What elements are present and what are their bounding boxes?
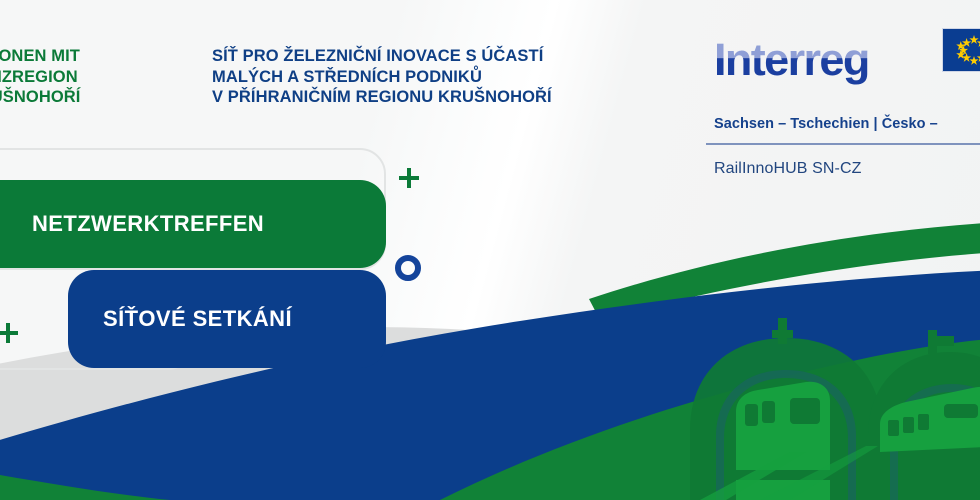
event-banner: NNOVATIONEN MIT ER GRENZREGION RGE/KRUŠN…	[0, 0, 980, 500]
title-german-line-1: NNOVATIONEN MIT	[0, 46, 186, 67]
interreg-logo-block: Interreg	[706, 28, 980, 188]
circle-outline-mark-icon	[395, 255, 421, 281]
logo-divider	[706, 143, 980, 145]
title-german-line-2: ER GRENZREGION	[0, 67, 186, 88]
badge-netzwerktreffen-label: NETZWERKTREFFEN	[32, 211, 264, 237]
badge-sitove-setkani[interactable]: SÍŤOVÉ SETKÁNÍ	[68, 270, 386, 368]
european-union-flag-icon	[942, 28, 980, 72]
title-german-line-3: RGE/KRUŠNOHOŘÍ	[0, 87, 186, 108]
region-subtitle: Sachsen – Tschechien | Česko –	[714, 116, 938, 132]
title-czech-line-3: V PŘÍHRANIČNÍM REGIONU KRUŠNOHOŘÍ	[212, 87, 552, 108]
interreg-wordmark-wrap: Interreg	[714, 34, 869, 86]
plus-mark-icon-bottom	[0, 323, 18, 343]
plus-mark-icon-top	[399, 168, 419, 188]
title-czech: SÍŤ PRO ŽELEZNIČNÍ INOVACE S ÚČASTÍ MALÝ…	[212, 46, 552, 108]
title-czech-line-2: MALÝCH A STŘEDNÍCH PODNIKŮ	[212, 67, 552, 88]
project-name: RailInnoHUB SN-CZ	[714, 160, 862, 178]
interreg-wordmark: Interreg	[714, 34, 869, 86]
badge-sitove-setkani-label: SÍŤOVÉ SETKÁNÍ	[103, 306, 292, 332]
badge-netzwerktreffen[interactable]: NETZWERKTREFFEN	[0, 180, 386, 268]
title-german: NNOVATIONEN MIT ER GRENZREGION RGE/KRUŠN…	[0, 46, 186, 108]
eu-stars	[943, 29, 980, 71]
title-czech-line-1: SÍŤ PRO ŽELEZNIČNÍ INOVACE S ÚČASTÍ	[212, 46, 552, 67]
